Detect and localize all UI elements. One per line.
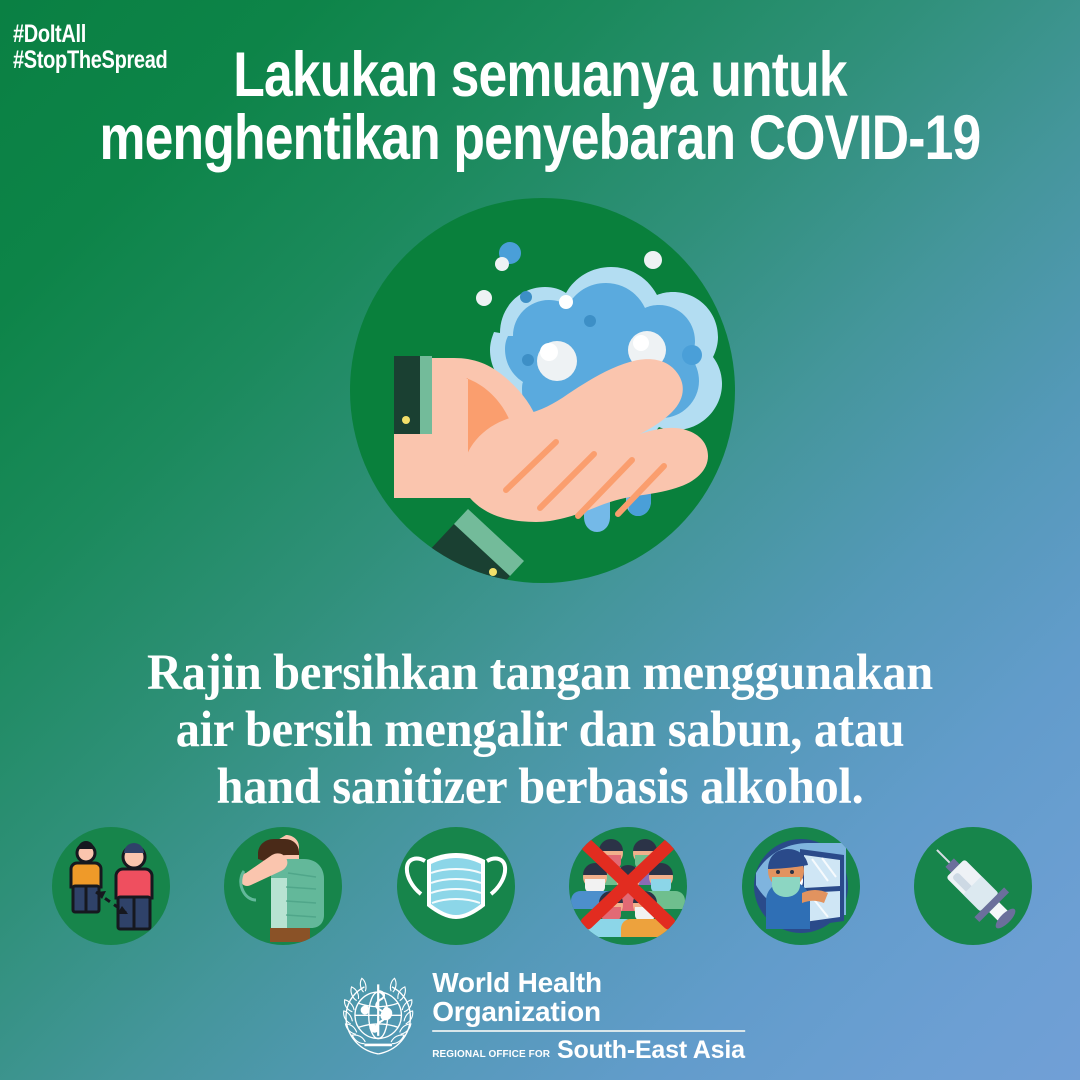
syringe	[922, 835, 1024, 937]
page-title: Lakukan semuanya untuk menghentikan peny…	[0, 44, 1080, 170]
handwashing-illustration	[350, 198, 735, 583]
who-name-line-1: World Health	[432, 968, 745, 997]
who-region-name: South-East Asia	[557, 1036, 745, 1065]
person-right	[116, 843, 152, 929]
headline-line-2: menghentikan penyebaran COVID-19	[97, 107, 983, 170]
surgical-mask	[407, 853, 505, 919]
physical-distancing-icon[interactable]	[52, 827, 170, 945]
body-copy-line-2: air bersih mengalir dan sabun, atau	[27, 702, 1053, 759]
body-copy-line-1: Rajin bersihkan tangan menggunakan	[27, 645, 1053, 702]
left-sleeve-cuff	[394, 356, 432, 434]
person-opening-window	[754, 839, 848, 933]
face-mask-icon[interactable]	[397, 827, 515, 945]
who-name-line-2: Organization	[432, 997, 745, 1026]
measures-icon-row	[52, 827, 1032, 945]
who-logo: World Health Organization REGIONAL OFFIC…	[335, 968, 745, 1065]
body-copy-line-3: hand sanitizer berbasis alkohol.	[27, 759, 1053, 816]
who-region-label: REGIONAL OFFICE FOR	[432, 1049, 550, 1060]
poster-canvas: #DoItAll #StopTheSpread Lakukan semuanya…	[0, 0, 1080, 1080]
who-divider	[432, 1030, 745, 1032]
cough-into-elbow-icon[interactable]	[224, 827, 342, 945]
person-coughing	[241, 835, 325, 942]
avoid-crowds-icon[interactable]	[569, 827, 687, 945]
who-emblem	[335, 974, 421, 1060]
right-sleeve-cuff	[426, 509, 524, 583]
crowd-of-masked-people	[571, 839, 685, 937]
headline-line-1: Lakukan semuanya untuk	[97, 44, 983, 107]
who-wordmark: World Health Organization REGIONAL OFFIC…	[432, 968, 745, 1065]
vaccine-syringe-icon[interactable]	[914, 827, 1032, 945]
person-left	[71, 841, 101, 912]
open-window-ventilation-icon[interactable]	[742, 827, 860, 945]
body-copy: Rajin bersihkan tangan menggunakan air b…	[0, 645, 1080, 816]
